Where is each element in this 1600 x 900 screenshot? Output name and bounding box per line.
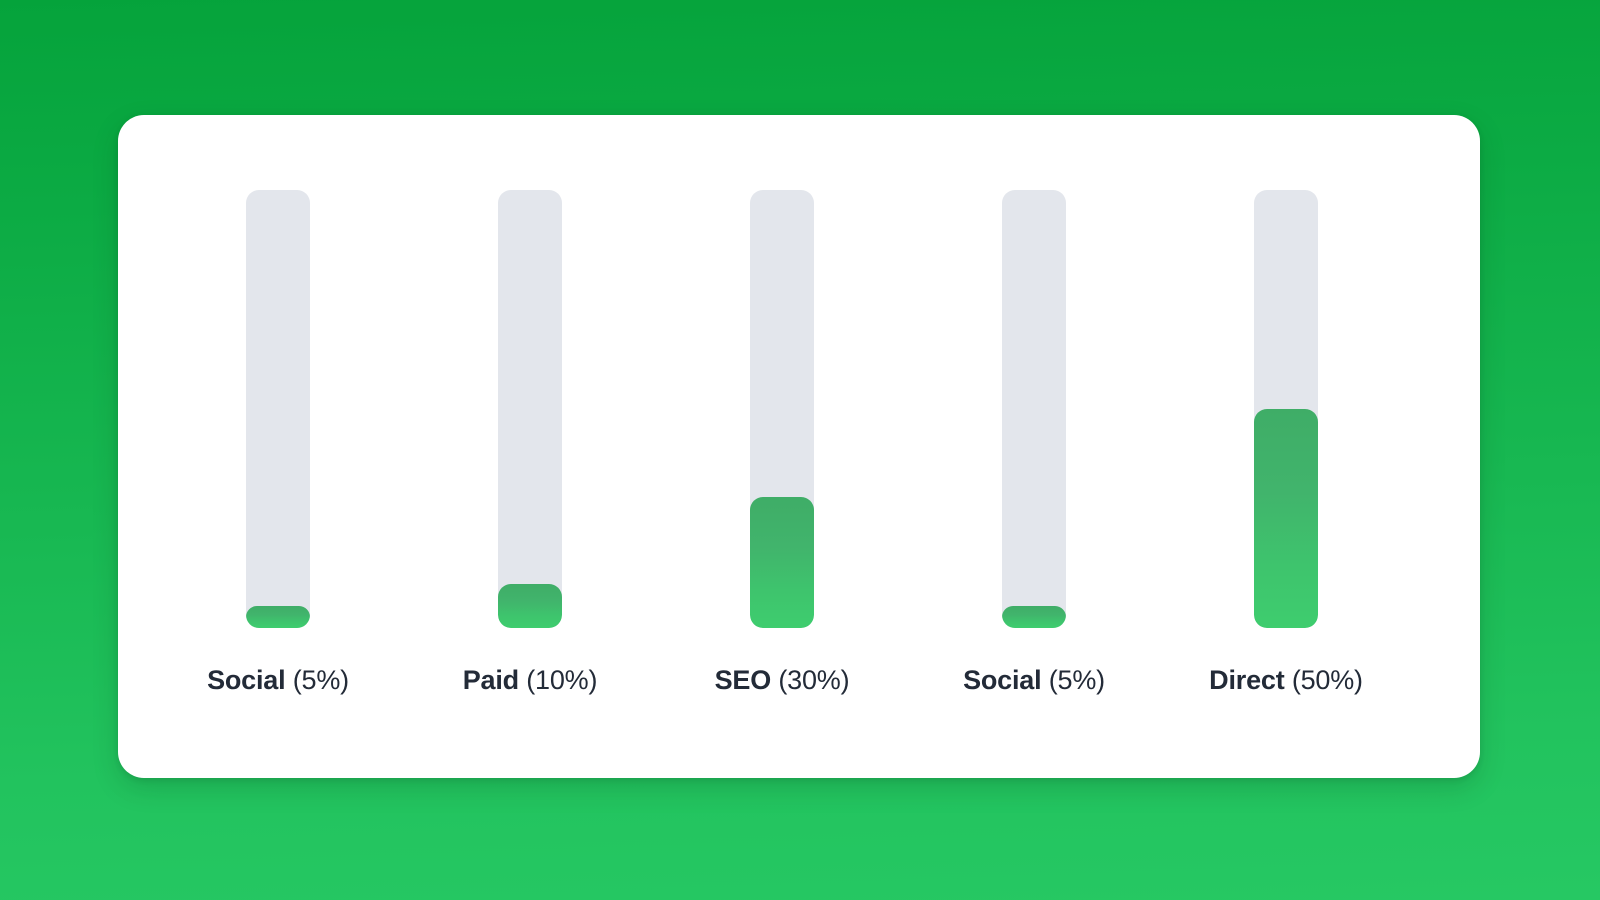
bar-fill xyxy=(750,497,814,628)
bar-fill xyxy=(498,584,562,628)
bar-label-percent: (50%) xyxy=(1292,665,1363,695)
bar-label-percent: (30%) xyxy=(778,665,849,695)
bar-label-name: Direct xyxy=(1209,665,1284,695)
bar-column[interactable]: Paid (10%) xyxy=(404,190,656,730)
bar-track xyxy=(246,190,310,628)
bar-label: Social (5%) xyxy=(963,664,1105,696)
bar-track xyxy=(498,190,562,628)
bar-label: Direct (50%) xyxy=(1209,664,1363,696)
bar-label-percent: (5%) xyxy=(1049,665,1105,695)
bar-fill xyxy=(1002,606,1066,628)
bar-label-percent: (5%) xyxy=(293,665,349,695)
bar-fill xyxy=(246,606,310,628)
bar-track xyxy=(750,190,814,628)
bar-label-name: SEO xyxy=(715,665,771,695)
bar-label-percent: (10%) xyxy=(526,665,597,695)
bar-fill xyxy=(1254,409,1318,628)
bar-track xyxy=(1002,190,1066,628)
bar-label-name: Social xyxy=(963,665,1041,695)
bar-column[interactable]: Direct (50%) xyxy=(1160,190,1412,730)
bar-chart: Social (5%) Paid (10%) xyxy=(118,115,1480,778)
bar-label: Social (5%) xyxy=(207,664,349,696)
bar-column[interactable]: Social (5%) xyxy=(152,190,404,730)
bar-label-name: Paid xyxy=(463,665,519,695)
bar-column[interactable]: Social (5%) xyxy=(908,190,1160,730)
bar-track xyxy=(1254,190,1318,628)
chart-card: Social (5%) Paid (10%) xyxy=(118,115,1480,778)
bar-label: Paid (10%) xyxy=(463,664,598,696)
page-background: Social (5%) Paid (10%) xyxy=(0,0,1600,900)
bar-column[interactable]: SEO (30%) xyxy=(656,190,908,730)
bar-label-name: Social xyxy=(207,665,285,695)
bar-label: SEO (30%) xyxy=(715,664,850,696)
